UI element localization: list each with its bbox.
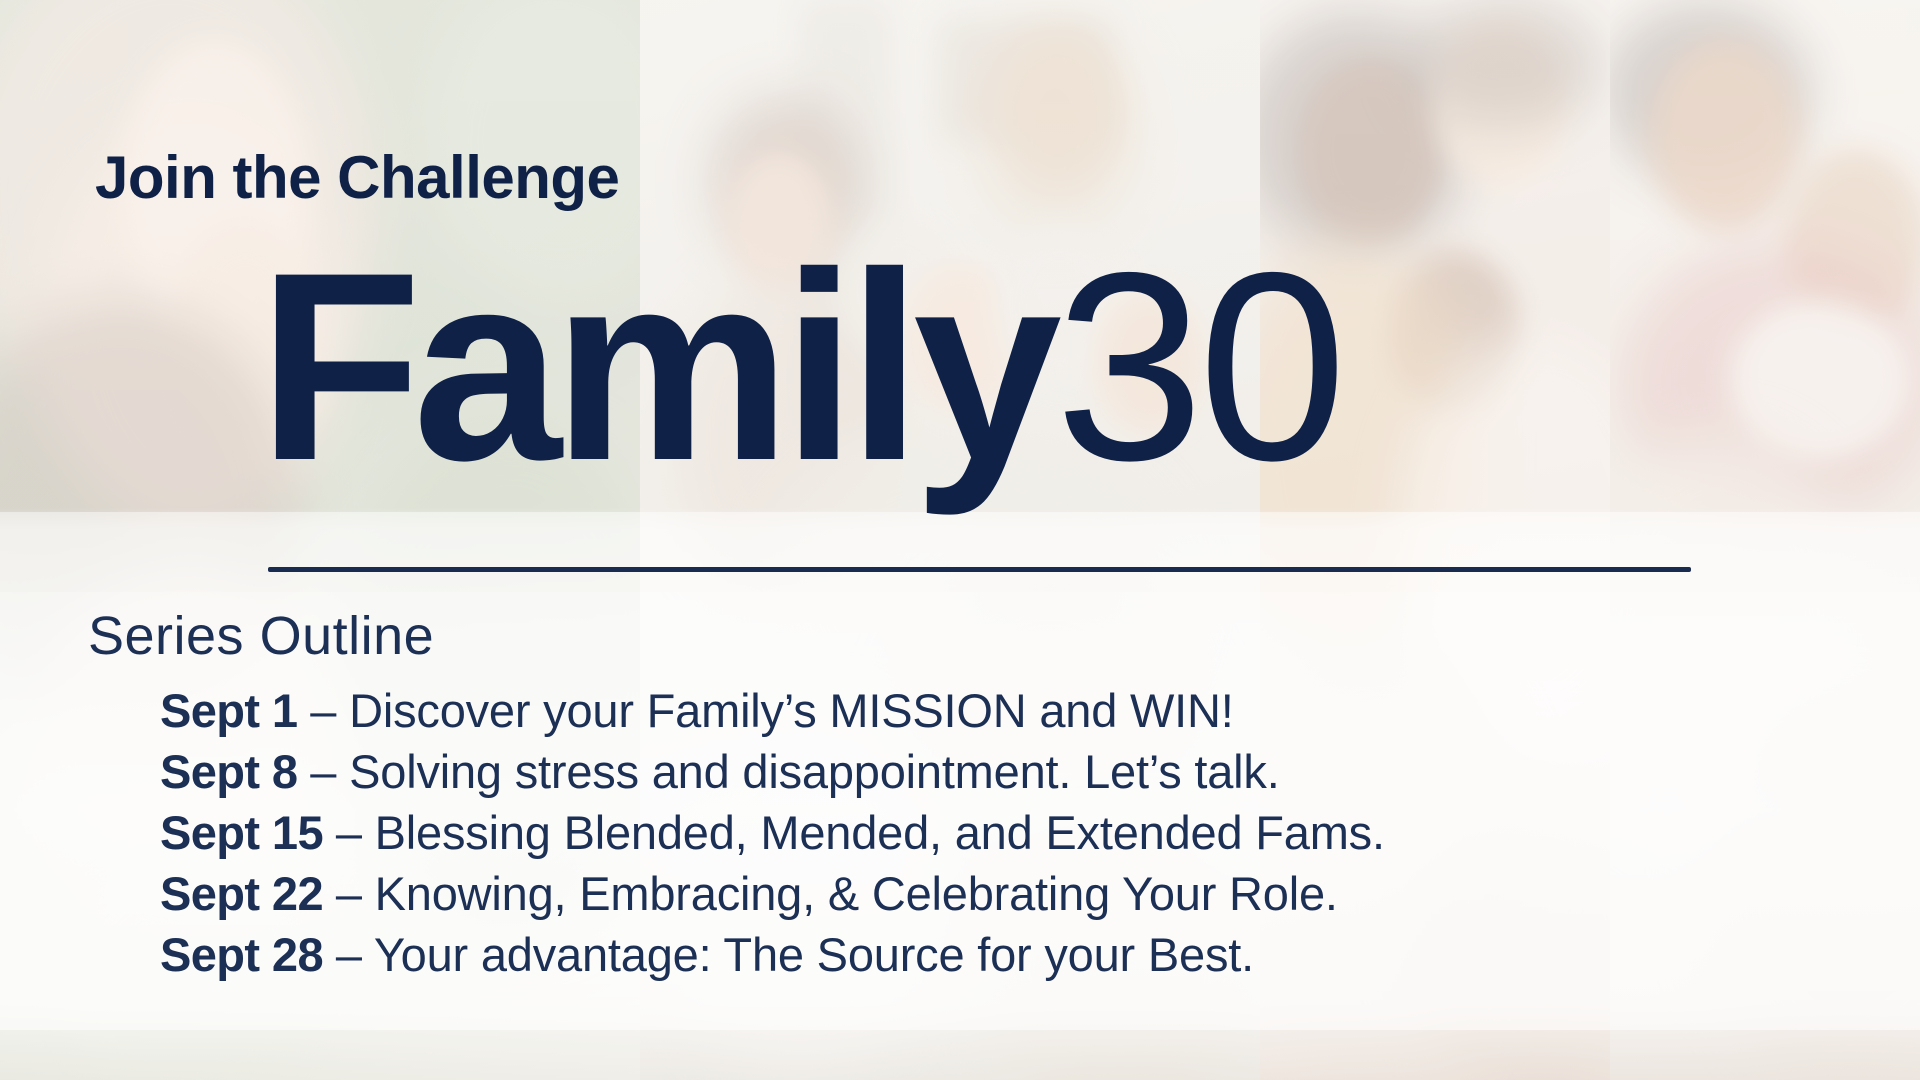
- wordmark-thirty-text: 30: [1055, 216, 1341, 516]
- list-item: Sept 15 – Blessing Blended, Mended, and …: [160, 802, 1385, 863]
- list-item: Sept 1 – Discover your Family’s MISSION …: [160, 680, 1385, 741]
- session-description: Blessing Blended, Mended, and Extended F…: [375, 806, 1385, 859]
- poster-content: Join the Challenge Family30 Series Outli…: [0, 0, 1920, 1080]
- session-date: Sept 1: [160, 684, 297, 737]
- wordmark-family-text: Family: [258, 216, 1053, 516]
- poster-canvas: Join the Challenge Family30 Series Outli…: [0, 0, 1920, 1080]
- session-date: Sept 8: [160, 745, 297, 798]
- session-dash: –: [297, 684, 349, 737]
- session-description: Your advantage: The Source for your Best…: [374, 928, 1254, 981]
- session-description: Solving stress and disappointment. Let’s…: [349, 745, 1279, 798]
- series-outline-heading: Series Outline: [88, 605, 434, 667]
- session-date: Sept 22: [160, 867, 323, 920]
- session-description: Discover your Family’s MISSION and WIN!: [349, 684, 1234, 737]
- list-item: Sept 22 – Knowing, Embracing, & Celebrat…: [160, 863, 1385, 924]
- session-dash: –: [323, 867, 375, 920]
- session-dash: –: [323, 806, 375, 859]
- kicker-text: Join the Challenge: [95, 148, 619, 208]
- session-dash: –: [323, 928, 374, 981]
- wordmark: Family30: [258, 232, 1341, 500]
- session-description: Knowing, Embracing, & Celebrating Your R…: [375, 867, 1338, 920]
- list-item: Sept 8 – Solving stress and disappointme…: [160, 741, 1385, 802]
- list-item: Sept 28 – Your advantage: The Source for…: [160, 924, 1385, 985]
- series-outline-list: Sept 1 – Discover your Family’s MISSION …: [160, 680, 1385, 985]
- session-date: Sept 28: [160, 928, 323, 981]
- horizontal-rule: [268, 567, 1691, 572]
- session-date: Sept 15: [160, 806, 323, 859]
- session-dash: –: [297, 745, 349, 798]
